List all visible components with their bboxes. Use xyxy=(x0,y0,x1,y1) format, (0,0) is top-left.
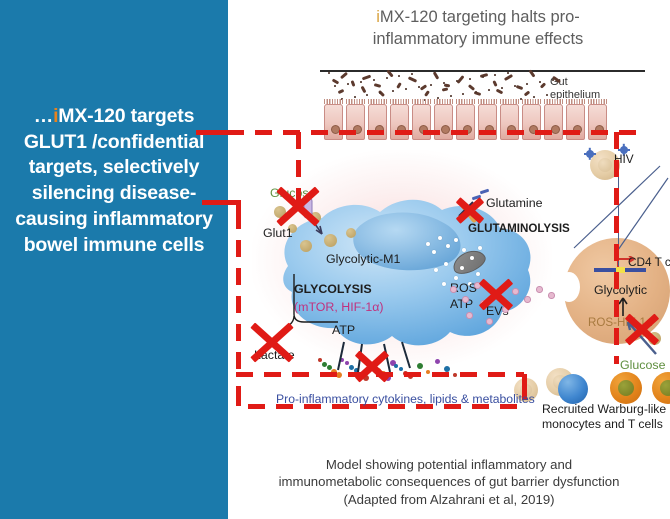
block-x-glutamine xyxy=(454,196,486,224)
bacterium xyxy=(374,83,382,88)
bacterial-debris xyxy=(456,80,458,82)
bacterial-debris xyxy=(539,81,541,83)
ev-particle xyxy=(486,318,493,325)
recruited-t-cell-2 xyxy=(652,372,670,404)
bacterium xyxy=(340,72,348,79)
block-x-dc-glucose xyxy=(622,310,662,348)
bacterium xyxy=(362,75,371,81)
glucose-right-label: Glucose xyxy=(620,358,665,372)
bacterial-debris xyxy=(411,73,413,75)
epithelial-brush-border xyxy=(500,99,519,104)
epithelial-brush-border xyxy=(390,99,409,104)
epithelial-brush-border xyxy=(346,99,365,104)
bacterium xyxy=(492,80,497,87)
bacterium xyxy=(361,86,367,94)
cytokine-particle xyxy=(318,358,322,362)
bacterial-debris xyxy=(475,91,477,93)
block-x-evs xyxy=(476,276,516,312)
bacterium xyxy=(433,71,440,79)
bacterial-debris xyxy=(469,78,471,80)
ros-particle xyxy=(454,276,458,280)
bacterial-debris xyxy=(488,89,490,91)
solid-line-cytokine-left xyxy=(236,386,241,406)
epithelial-brush-border xyxy=(456,99,475,104)
epithelial-brush-border xyxy=(522,99,541,104)
bacterial-debris xyxy=(450,95,452,97)
caption-line-1: Model showing potential inflammatory and xyxy=(233,456,665,473)
epithelial-brush-border xyxy=(478,99,497,104)
atp-arrow xyxy=(290,272,350,332)
bacterium xyxy=(496,89,504,95)
solid-line-callout-2 xyxy=(202,200,240,205)
recruited-cells-label: Recruited Warburg-like monocytes and T c… xyxy=(542,402,670,432)
bacterial-debris xyxy=(462,93,464,95)
ev-particle xyxy=(536,286,543,293)
dash-line-right-vertical xyxy=(614,132,619,364)
callout-text: …iMX-120 targets GLUT1 /confidential tar… xyxy=(6,104,222,258)
bacterial-debris xyxy=(552,79,554,81)
bacterial-debris xyxy=(379,92,381,94)
dash-line-top xyxy=(227,130,641,135)
cytokine-particle xyxy=(322,362,327,367)
cd4-t-cells-label: CD4 T c xyxy=(628,255,670,269)
bacterial-debris xyxy=(494,74,496,76)
ros-particle xyxy=(442,282,446,286)
hiv-particle-1 xyxy=(586,150,594,158)
recruited-line-1: Recruited Warburg-like xyxy=(542,402,670,417)
ros-particle xyxy=(462,248,466,252)
bacterial-debris xyxy=(418,86,420,88)
bacterial-debris xyxy=(373,79,375,81)
ros-particle xyxy=(446,244,450,248)
block-x-cytokines xyxy=(352,348,392,384)
caption-line-2: immunometabolic consequences of gut barr… xyxy=(233,473,665,490)
bacterium xyxy=(504,74,513,81)
ros-particle xyxy=(432,250,436,254)
bacterium xyxy=(424,90,430,97)
recruited-t-cell-1 xyxy=(610,372,642,404)
epithelial-brush-border xyxy=(588,99,607,104)
glucose-granule xyxy=(346,228,356,238)
epithelial-brush-border xyxy=(412,99,431,104)
cytokines-label: Pro-inflammatory cytokines, lipids & met… xyxy=(276,392,535,406)
ev-particle xyxy=(450,286,457,293)
ev-particle xyxy=(466,312,473,319)
ros-particle xyxy=(444,262,448,266)
callout-prefix: … xyxy=(34,105,53,127)
slide-root: …iMX-120 targets GLUT1 /confidential tar… xyxy=(0,0,670,519)
bacterial-debris xyxy=(347,83,349,85)
ros-particle xyxy=(434,268,438,272)
callout-panel: …iMX-120 targets GLUT1 /confidential tar… xyxy=(0,0,228,519)
bacterium xyxy=(516,85,524,90)
cytokine-particle xyxy=(435,359,440,364)
caption-line-3: (Adapted from Alzahrani et al, 2019) xyxy=(233,491,665,508)
bacterium xyxy=(332,78,340,84)
bacterium xyxy=(396,82,402,89)
bacterial-debris xyxy=(366,94,368,96)
gut-epithelium-line1: Gut xyxy=(550,76,636,89)
bacterial-debris xyxy=(507,72,509,74)
dc-glycolytic-label: Glycolytic xyxy=(594,283,647,297)
bacterial-debris xyxy=(392,90,394,92)
epithelial-brush-border xyxy=(434,99,453,104)
ros-particle xyxy=(426,242,430,246)
bacterial-debris xyxy=(405,88,407,90)
dash-line-left-vertical xyxy=(236,212,241,374)
bacterium xyxy=(338,89,345,94)
ros-particle xyxy=(438,236,442,240)
bacterial-debris xyxy=(526,83,528,85)
dash-line-cytokine-top xyxy=(236,372,524,377)
bacterial-debris xyxy=(533,96,535,98)
bacterial-debris xyxy=(482,76,484,78)
bacterium xyxy=(408,76,417,83)
glycolytic-m1-label: Glycolytic-M1 xyxy=(326,252,400,266)
bacterium xyxy=(420,84,427,90)
bacterium xyxy=(351,80,356,87)
dendritic-cell-notch xyxy=(558,272,580,302)
bacterial-debris xyxy=(398,75,400,77)
bacterium xyxy=(442,87,448,91)
bacterial-debris xyxy=(443,82,445,84)
bacterium xyxy=(468,84,475,91)
bacterium xyxy=(540,82,546,88)
epithelial-brush-border xyxy=(566,99,585,104)
pathway-diagram: Gut epithelium xyxy=(228,0,670,455)
bacterial-debris xyxy=(501,87,503,89)
ev-particle xyxy=(462,296,469,303)
bacterial-debris xyxy=(354,96,356,98)
bacterial-debris xyxy=(328,72,330,74)
figure-caption: Model showing potential inflammatory and… xyxy=(233,456,665,508)
ros-particle xyxy=(460,266,464,270)
bacterium xyxy=(524,90,531,96)
cytokine-particle xyxy=(417,363,423,369)
glut1-label: Glut1 xyxy=(263,226,293,240)
bacterial-debris xyxy=(360,81,362,83)
dash-line-glut1-drop xyxy=(296,132,301,214)
callout-body: MX-120 targets GLUT1 /confidential targe… xyxy=(15,105,213,256)
ev-particle xyxy=(524,296,531,303)
block-x-lactate xyxy=(246,322,298,362)
ros-particle xyxy=(478,246,482,250)
ros-particle xyxy=(454,238,458,242)
bacterial-debris xyxy=(430,84,432,86)
bacterial-debris xyxy=(334,85,336,87)
epithelial-brush-border xyxy=(544,99,563,104)
epithelial-brush-border xyxy=(368,99,387,104)
epithelial-brush-border xyxy=(324,99,343,104)
recruited-line-2: monocytes and T cells xyxy=(542,417,670,432)
solid-line-callout-1 xyxy=(196,130,230,135)
bacterial-debris xyxy=(546,94,548,96)
bacterial-debris xyxy=(386,77,388,79)
recruited-monocyte xyxy=(558,374,588,404)
ros-particle xyxy=(470,256,474,260)
epithelium-top-rule xyxy=(320,70,645,72)
glutamine-label: Glutamine xyxy=(486,196,542,210)
bacterial-debris xyxy=(514,85,516,87)
ev-particle xyxy=(548,292,555,299)
